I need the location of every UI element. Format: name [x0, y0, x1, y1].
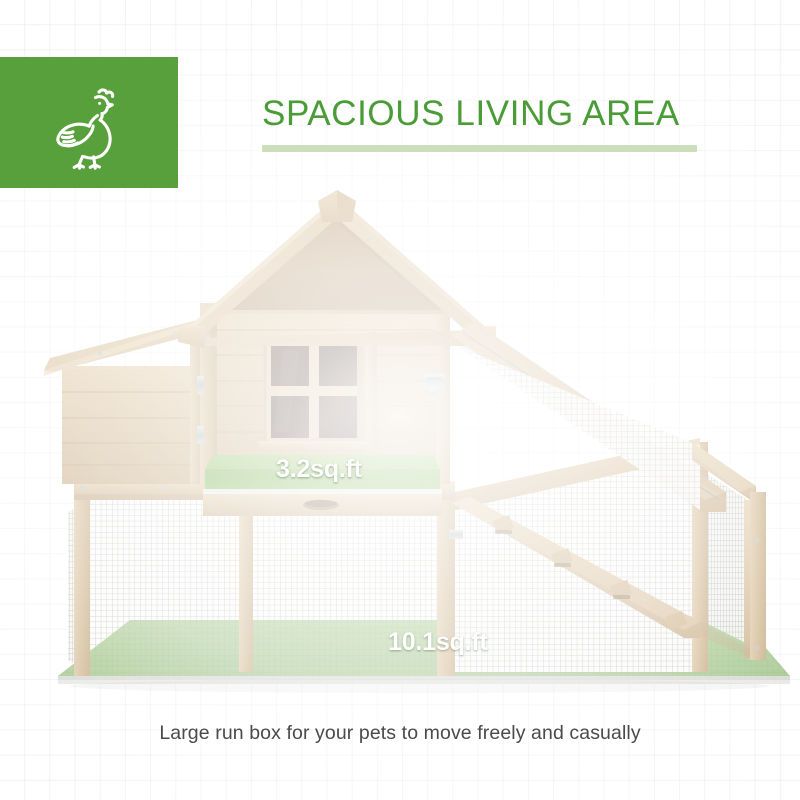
- chicken-badge: [0, 57, 178, 188]
- title-underline: [262, 145, 697, 152]
- chicken-icon: [41, 75, 137, 171]
- infographic-canvas: SPACIOUS LIVING AREA 3.2sq.ft 10.1sq.ft …: [0, 0, 800, 800]
- run-latch: [449, 530, 463, 539]
- caption-text: Large run box for your pets to move free…: [0, 722, 800, 745]
- nest-box-area-overlay: [203, 455, 442, 494]
- nest-box-drawer: [203, 494, 442, 516]
- title-block: SPACIOUS LIVING AREA: [262, 96, 732, 152]
- coop-gable: [225, 212, 449, 310]
- page-title: SPACIOUS LIVING AREA: [262, 96, 732, 133]
- coop-window: [259, 332, 377, 451]
